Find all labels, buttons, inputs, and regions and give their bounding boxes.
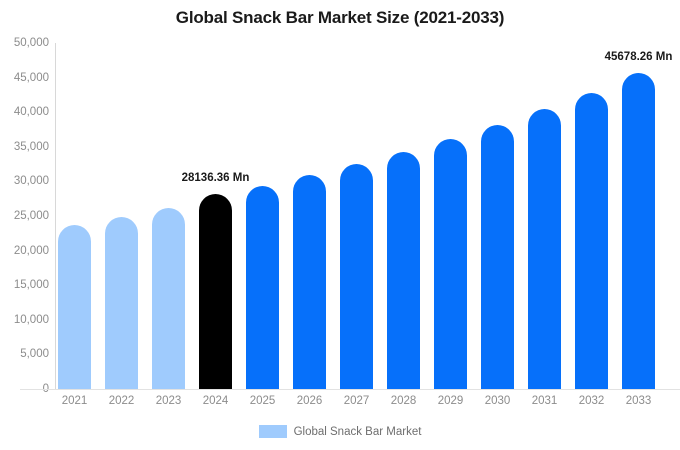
bar-2031[interactable] xyxy=(528,109,561,389)
chart-title: Global Snack Bar Market Size (2021-2033) xyxy=(0,8,680,28)
y-axis-tick-label: 15,000 xyxy=(3,279,49,291)
x-axis-tick-label-2024: 2024 xyxy=(203,395,229,407)
x-axis-tick-label-2031: 2031 xyxy=(532,395,558,407)
y-axis-tick-label: 40,000 xyxy=(3,106,49,118)
bar-2024[interactable] xyxy=(199,194,232,389)
x-axis-tick-labels: 2021202220232024202520262027202820292030… xyxy=(55,395,680,413)
bar-2032[interactable] xyxy=(575,93,608,389)
x-axis-tick-label-2033: 2033 xyxy=(626,395,652,407)
y-axis-tick-label: 25,000 xyxy=(3,210,49,222)
y-axis-tick-label: 20,000 xyxy=(3,245,49,257)
y-axis-tick-labels: 05,00010,00015,00020,00025,00030,00035,0… xyxy=(0,0,49,450)
x-axis-line xyxy=(20,389,680,390)
bar-2027[interactable] xyxy=(340,164,373,389)
y-axis-tick-label: 45,000 xyxy=(3,72,49,84)
bar-2030[interactable] xyxy=(481,125,514,389)
bar-2033[interactable] xyxy=(622,73,655,389)
x-axis-tick-label-2022: 2022 xyxy=(109,395,135,407)
y-axis-tick-label: 30,000 xyxy=(3,175,49,187)
y-axis-tick-label: 50,000 xyxy=(3,37,49,49)
x-axis-tick-label-2026: 2026 xyxy=(297,395,323,407)
y-axis-tick-label: 5,000 xyxy=(3,348,49,360)
x-axis-tick-label-2028: 2028 xyxy=(391,395,417,407)
x-axis-tick-label-2029: 2029 xyxy=(438,395,464,407)
x-axis-tick-label-2032: 2032 xyxy=(579,395,605,407)
x-axis-tick-label-2021: 2021 xyxy=(62,395,88,407)
bar-chart: Global Snack Bar Market Size (2021-2033)… xyxy=(0,0,680,450)
x-axis-tick-label-2030: 2030 xyxy=(485,395,511,407)
bar-value-label-2033: 45678.26 Mn xyxy=(605,51,673,63)
chart-legend: Global Snack Bar Market xyxy=(0,425,680,438)
bar-2025[interactable] xyxy=(246,186,279,389)
legend-label-global-snack-bar-market: Global Snack Bar Market xyxy=(294,426,422,438)
y-axis-tick-label: 10,000 xyxy=(3,314,49,326)
bar-2021[interactable] xyxy=(58,225,91,389)
bar-2028[interactable] xyxy=(387,152,420,389)
legend-swatch-global-snack-bar-market xyxy=(259,425,287,438)
bar-2029[interactable] xyxy=(434,139,467,390)
x-axis-tick-label-2025: 2025 xyxy=(250,395,276,407)
y-axis-tick-label: 35,000 xyxy=(3,141,49,153)
bar-2023[interactable] xyxy=(152,208,185,389)
bar-2026[interactable] xyxy=(293,175,326,389)
x-axis-tick-label-2023: 2023 xyxy=(156,395,182,407)
x-axis-tick-label-2027: 2027 xyxy=(344,395,370,407)
bar-2022[interactable] xyxy=(105,217,138,389)
bar-value-label-2024: 28136.36 Mn xyxy=(182,172,250,184)
bars-layer xyxy=(55,43,680,389)
